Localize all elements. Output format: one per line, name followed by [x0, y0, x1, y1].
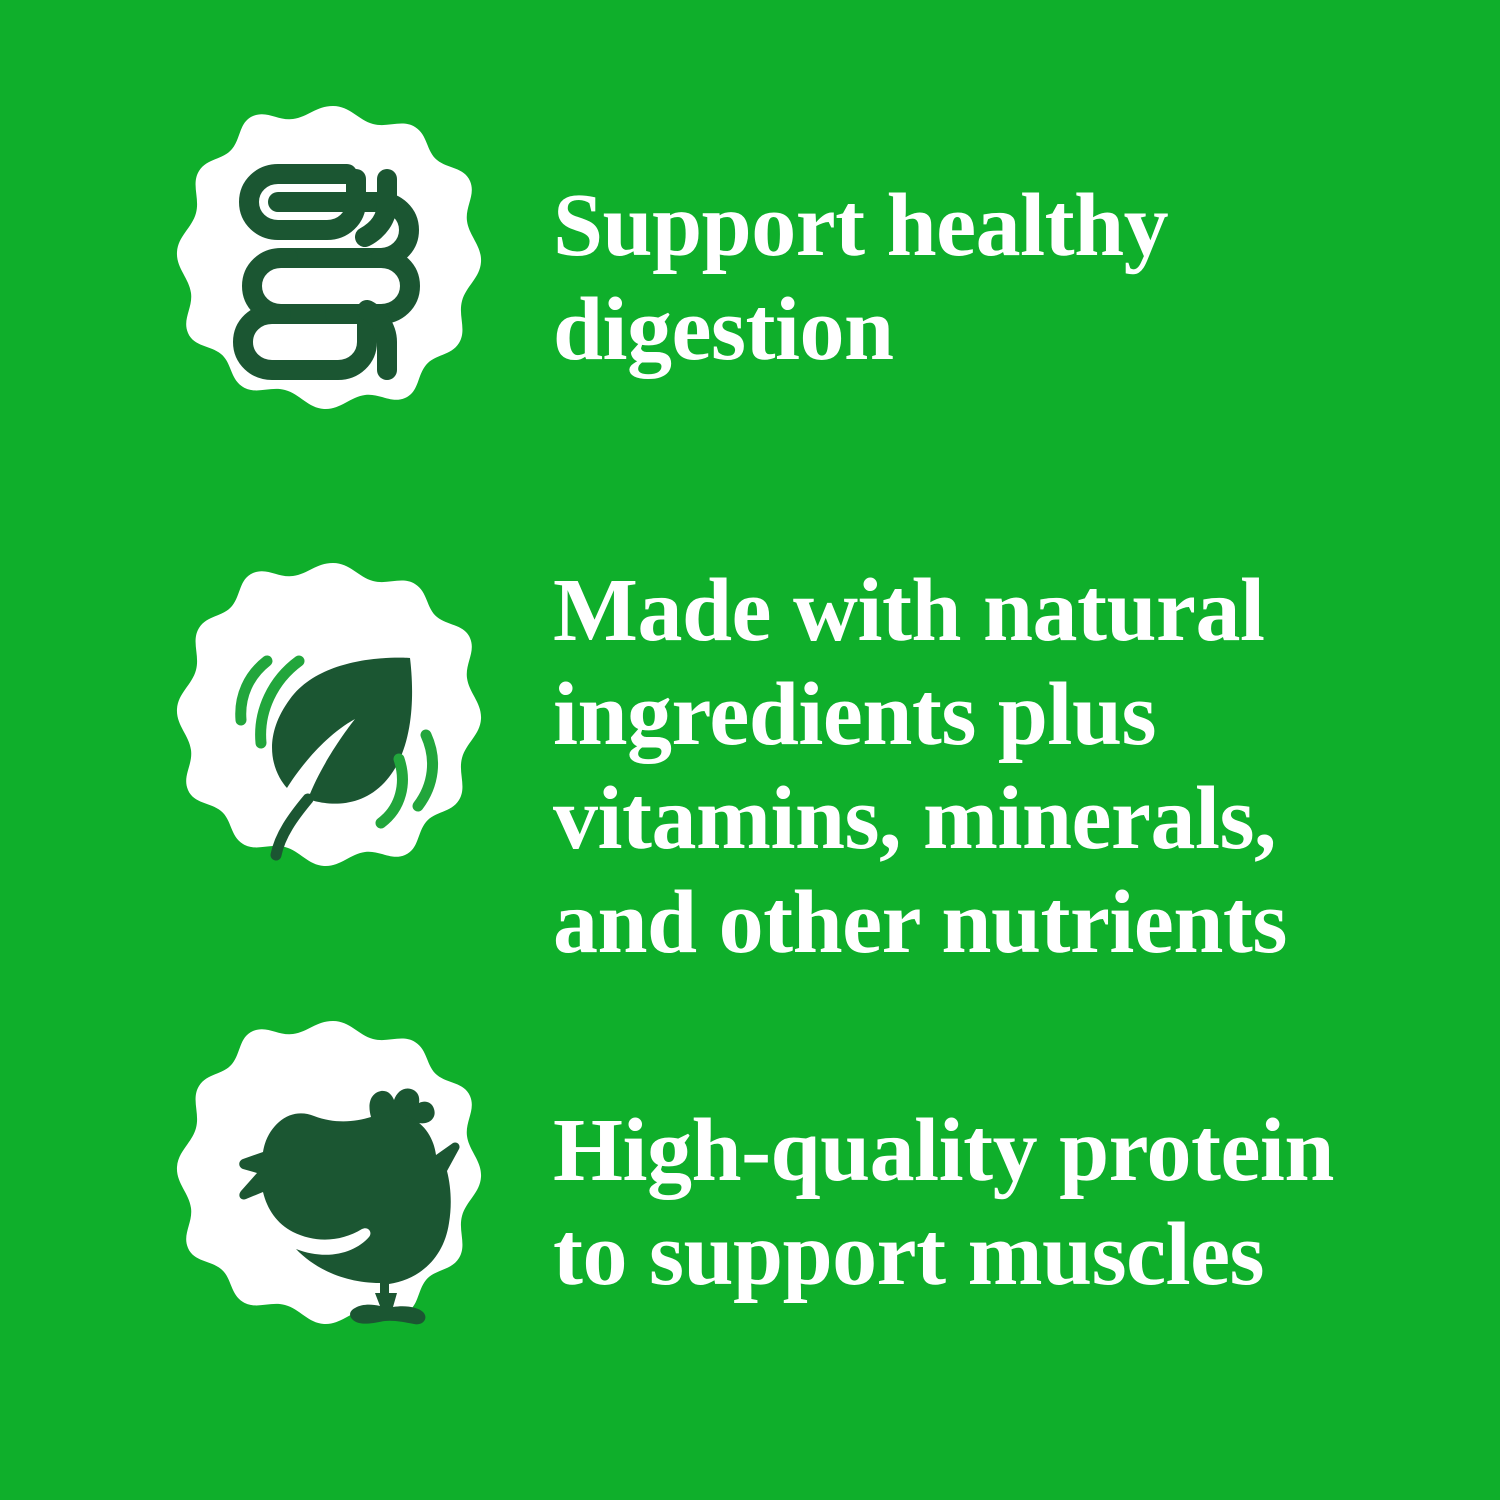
scalloped-badge-digestion: [175, 106, 491, 422]
benefit-text-digestion: Support healthy digestion: [553, 174, 1168, 382]
benefits-panel: Support healthy digestion: [0, 0, 1500, 1500]
scalloped-badge-protein: [175, 1021, 491, 1337]
benefit-text-protein: High-quality protein to support muscles: [553, 1099, 1334, 1307]
benefit-text-ingredients: Made with natural ingredients plus vitam…: [553, 559, 1287, 975]
scalloped-badge-ingredients: [175, 563, 491, 879]
